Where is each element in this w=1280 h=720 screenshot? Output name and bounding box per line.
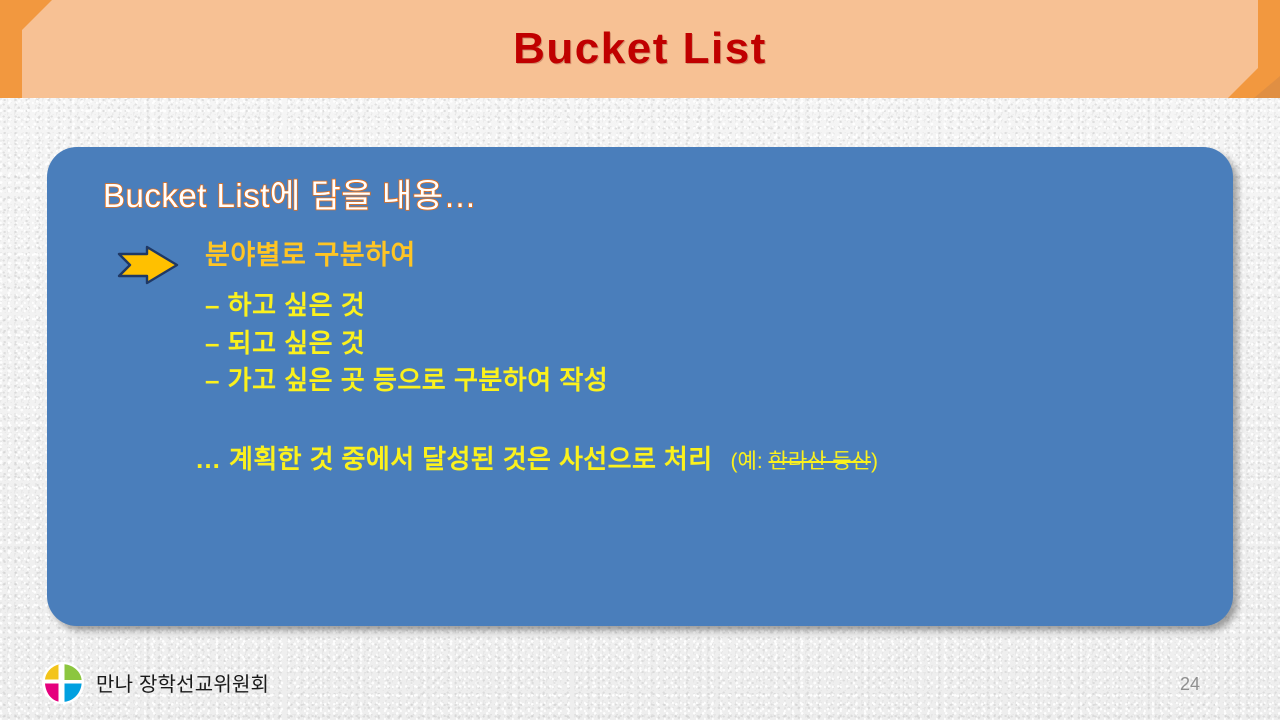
dash-item: – 가고 싶은 곳 등으로 구분하여 작성	[205, 362, 1207, 400]
closing-note-text: … 계획한 것 중에서 달성된 것은 사선으로 처리	[195, 444, 713, 474]
example-suffix: )	[871, 450, 878, 473]
example-struck-text: 한라산 등산	[769, 450, 871, 473]
dash-item: – 하고 싶은 것	[205, 287, 1207, 325]
panel-heading: Bucket List에 담을 내용…	[103, 169, 477, 217]
page-number: 24	[1180, 674, 1200, 695]
bullet-primary-row: 분야별로 구분하여	[117, 240, 1207, 285]
content-panel: Bucket List에 담을 내용… 분야별로 구분하여 – 하고 싶은 것 …	[47, 147, 1233, 626]
bullet-block: 분야별로 구분하여 – 하고 싶은 것 – 되고 싶은 것 – 가고 싶은 곳 …	[117, 240, 1207, 400]
dash-item: – 되고 싶은 것	[205, 325, 1207, 363]
page-title: Bucket List	[0, 0, 1280, 98]
dash-list: – 하고 싶은 것 – 되고 싶은 것 – 가고 싶은 곳 등으로 구분하여 작…	[205, 287, 1207, 400]
slide-canvas: Bucket List Bucket List에 담을 내용… 분야별로 구분하…	[0, 0, 1280, 720]
example-prefix: (예:	[731, 450, 769, 473]
right-arrow-icon	[117, 245, 179, 285]
footer-organization: 만나 장학선교위원회	[96, 668, 269, 697]
closing-note-example: (예: 한라산 등산)	[731, 450, 878, 473]
closing-note: … 계획한 것 중에서 달성된 것은 사선으로 처리(예: 한라산 등산)	[195, 439, 878, 476]
bullet-primary-label: 분야별로 구분하여	[205, 240, 416, 272]
manna-logo-icon	[40, 660, 86, 706]
title-banner: Bucket List	[0, 0, 1280, 98]
